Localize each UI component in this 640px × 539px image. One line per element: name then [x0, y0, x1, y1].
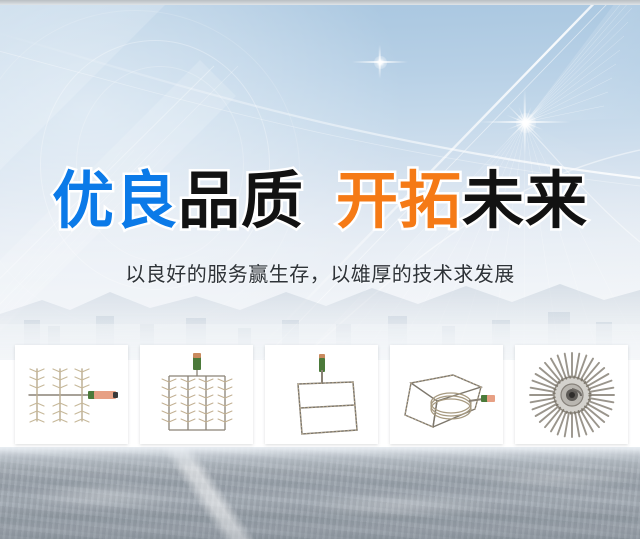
product-card[interactable] [390, 345, 503, 444]
product-card[interactable] [15, 345, 128, 444]
headline-part-4: 未来 [462, 164, 588, 237]
lens-flare-star-secondary [380, 62, 382, 64]
product-card-row [15, 345, 625, 444]
comb-rake-tine-bar-icon [20, 356, 124, 434]
headline: 优良品质 开拓未来 [0, 166, 640, 236]
double-row-tine-rake-icon [155, 352, 239, 438]
bottom-vignette [0, 513, 640, 539]
headline-part-1: 优良 [52, 164, 178, 237]
product-card[interactable] [515, 345, 628, 444]
lens-flare-star [525, 122, 527, 124]
ground-blotch [30, 481, 180, 511]
square-coil-frame-tool-icon [397, 357, 497, 433]
radial-sunburst-brush-wheel-icon [525, 350, 619, 440]
promo-banner: 优良品质 开拓未来 以良好的服务赢生存，以雄厚的技术求发展 [0, 0, 640, 539]
headline-gap [304, 164, 336, 237]
subtitle: 以良好的服务赢生存，以雄厚的技术求发展 [0, 259, 640, 289]
headline-part-3: 开拓 [336, 164, 462, 237]
ground-blotch [470, 467, 640, 491]
flat-frame-brush-panel-icon [279, 352, 365, 438]
ground-haze [0, 447, 640, 469]
product-card[interactable] [140, 345, 253, 444]
product-card[interactable] [265, 345, 378, 444]
top-edge-strip [0, 0, 640, 5]
headline-part-2: 品质 [178, 164, 304, 237]
